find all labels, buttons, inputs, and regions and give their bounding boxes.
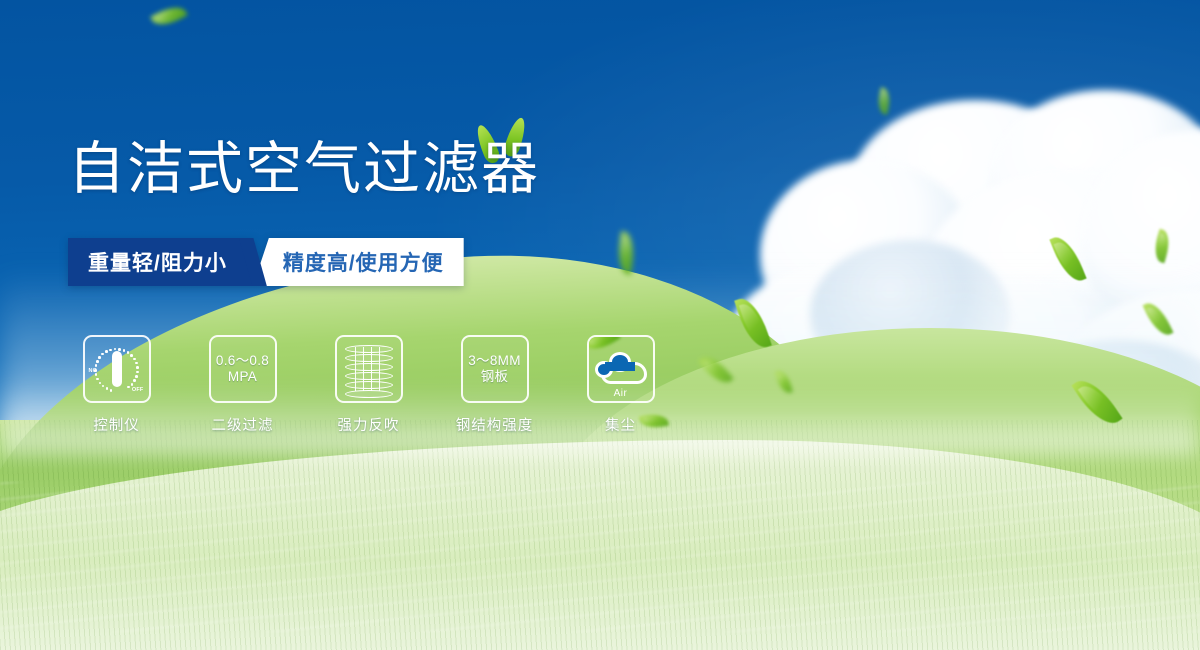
feature-item-steel[interactable]: 3～8MM 钢板 钢结构强度 bbox=[446, 335, 543, 435]
cloud-air-icon: Air bbox=[593, 350, 649, 384]
gauge-tick bbox=[118, 348, 121, 351]
filter-stack-icon bbox=[345, 343, 393, 395]
filter-ring bbox=[345, 354, 393, 362]
page-title: 自洁式空气过滤器 bbox=[68, 141, 540, 198]
filter-ring bbox=[345, 363, 393, 371]
gauge-tick bbox=[110, 389, 113, 392]
gauge-tick bbox=[127, 351, 130, 354]
feature-icon-box: Air bbox=[587, 335, 655, 403]
filter-ring bbox=[345, 345, 393, 353]
gauge-tick bbox=[135, 375, 138, 378]
gauge-tick bbox=[127, 386, 130, 389]
feature-item-pressure[interactable]: 0.6～0.8 MPA 二级过滤 bbox=[194, 335, 291, 435]
gauge-off-label: OFF bbox=[132, 387, 144, 393]
subtitle-right-segment: 精度高/使用方便 bbox=[253, 238, 464, 286]
feature-label: 控制仪 bbox=[93, 414, 140, 435]
gauge-tick bbox=[101, 353, 104, 356]
feature-label: 集尘 bbox=[605, 414, 636, 435]
feature-item-dust[interactable]: Air 集尘 bbox=[572, 335, 669, 435]
subtitle-left-segment: 重量轻/阻力小 bbox=[68, 238, 253, 286]
gauge-tick bbox=[109, 349, 112, 352]
feature-icon-box: 0.6～0.8 MPA bbox=[209, 335, 277, 403]
gauge-tick bbox=[95, 373, 98, 376]
steel-plate-icon: 3～8MM 钢板 bbox=[468, 353, 521, 386]
feature-icon-box: NO OFF bbox=[83, 335, 151, 403]
gauge-tick bbox=[133, 358, 136, 361]
gauge-tick bbox=[96, 378, 99, 381]
filter-core-line bbox=[363, 347, 365, 391]
feature-icon-box bbox=[335, 335, 403, 403]
feature-icon-box: 3～8MM 钢板 bbox=[461, 335, 529, 403]
air-label: Air bbox=[593, 388, 649, 399]
gauge-tick bbox=[114, 348, 117, 351]
filter-core-line bbox=[371, 347, 373, 391]
filter-ring bbox=[345, 381, 393, 389]
gauge-tick bbox=[131, 383, 134, 386]
gauge-tick bbox=[123, 349, 126, 352]
feature-label: 二级过滤 bbox=[212, 414, 274, 435]
filter-core-line bbox=[379, 347, 381, 391]
feature-list: NO OFF 控制仪 0.6～0.8 MPA 二级过滤 强力反吹 bbox=[68, 335, 669, 435]
gauge-tick bbox=[106, 387, 109, 390]
filter-ring bbox=[345, 372, 393, 380]
gauge-tick bbox=[135, 362, 138, 365]
gauge-tick bbox=[94, 369, 97, 372]
gauge-tick bbox=[130, 354, 133, 357]
feature-item-controller[interactable]: NO OFF 控制仪 bbox=[68, 335, 165, 435]
cloud-merge-mask bbox=[605, 362, 635, 371]
gauge-needle bbox=[112, 351, 122, 387]
gauge-tick bbox=[102, 385, 105, 388]
gauge-icon: NO OFF bbox=[89, 343, 145, 395]
hero-banner: 自洁式空气过滤器 重量轻/阻力小 精度高/使用方便 NO OFF 控制仪 bbox=[0, 0, 1200, 650]
gauge-tick bbox=[95, 364, 98, 367]
feature-item-backblow[interactable]: 强力反吹 bbox=[320, 335, 417, 435]
filter-ring bbox=[345, 390, 393, 398]
gauge-tick bbox=[96, 360, 99, 363]
feature-label: 钢结构强度 bbox=[456, 414, 534, 435]
pressure-icon: 0.6～0.8 MPA bbox=[216, 353, 269, 386]
gauge-tick bbox=[136, 371, 139, 374]
filter-core-line bbox=[355, 347, 357, 391]
feature-label: 强力反吹 bbox=[338, 414, 400, 435]
gauge-tick bbox=[133, 379, 136, 382]
gauge-tick bbox=[98, 356, 101, 359]
banner-content: 自洁式空气过滤器 重量轻/阻力小 精度高/使用方便 NO OFF 控制仪 bbox=[0, 0, 1200, 650]
gauge-tick bbox=[99, 382, 102, 385]
subtitle-badge: 重量轻/阻力小 精度高/使用方便 bbox=[68, 238, 464, 286]
gauge-tick bbox=[136, 366, 139, 369]
gauge-tick bbox=[105, 350, 108, 353]
